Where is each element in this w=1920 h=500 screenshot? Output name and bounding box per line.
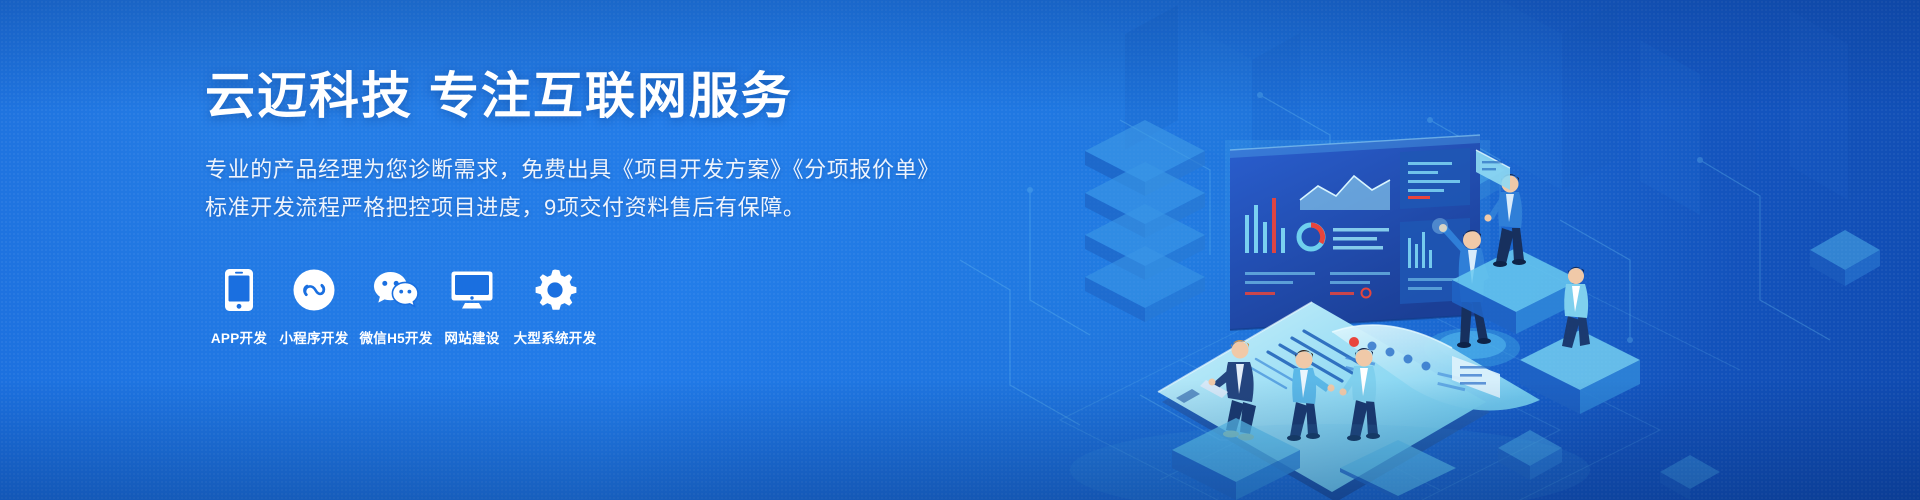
iso-grid (1060, 250, 1740, 500)
sitting-person (1200, 340, 1256, 441)
side-person (1562, 267, 1590, 348)
service-label-system: 大型系统开发 (514, 327, 597, 347)
mobile-phone-icon (224, 267, 254, 313)
building-blocks (1172, 248, 1640, 500)
service-item-mini-program[interactable]: 小程序开发 (273, 267, 355, 347)
monitor-icon (450, 267, 494, 313)
service-label-mini-program: 小程序开发 (280, 327, 349, 347)
service-item-app[interactable]: APP开发 (205, 267, 273, 347)
banner-content: 云迈科技 专注互联网服务 专业的产品经理为您诊断需求，免费出具《项目开发方案》《… (205, 66, 925, 347)
mini-program-icon (293, 267, 335, 313)
subtitle-line-1: 专业的产品经理为您诊断需求，免费出具《项目开发方案》《分项报价单》 (205, 152, 925, 188)
service-item-system[interactable]: 大型系统开发 (507, 267, 603, 347)
tablet-device (1158, 302, 1490, 500)
server-stack (1085, 120, 1205, 322)
floating-cubes (1435, 150, 1880, 500)
service-item-wechat-h5[interactable]: 微信H5开发 (355, 267, 437, 347)
wechat-icon (372, 267, 420, 313)
gear-icon (533, 267, 577, 313)
background-towers (1060, 0, 1902, 215)
floating-chart-card (1332, 325, 1540, 410)
dashboard-screen (1225, 135, 1490, 330)
service-label-website: 网站建设 (444, 327, 499, 347)
standing-person (1424, 218, 1520, 368)
service-label-app: APP开发 (211, 327, 267, 347)
mini-card (1476, 150, 1510, 190)
hero-banner: 云迈科技 专注互联网服务 专业的产品经理为您诊断需求，免费出具《项目开发方案》《… (0, 0, 1920, 500)
service-list: APP开发 小程序开发 (205, 267, 925, 347)
team-people (1287, 348, 1380, 441)
service-label-wechat-h5: 微信H5开发 (359, 327, 432, 347)
page-title: 云迈科技 专注互联网服务 (205, 66, 925, 126)
service-item-website[interactable]: 网站建设 (437, 267, 507, 347)
subtitle-line-2: 标准开发流程严格把控项目进度，9项交付资料售后有保障。 (205, 190, 925, 226)
circuit-lines (960, 92, 1830, 440)
walking-person (1484, 174, 1526, 267)
